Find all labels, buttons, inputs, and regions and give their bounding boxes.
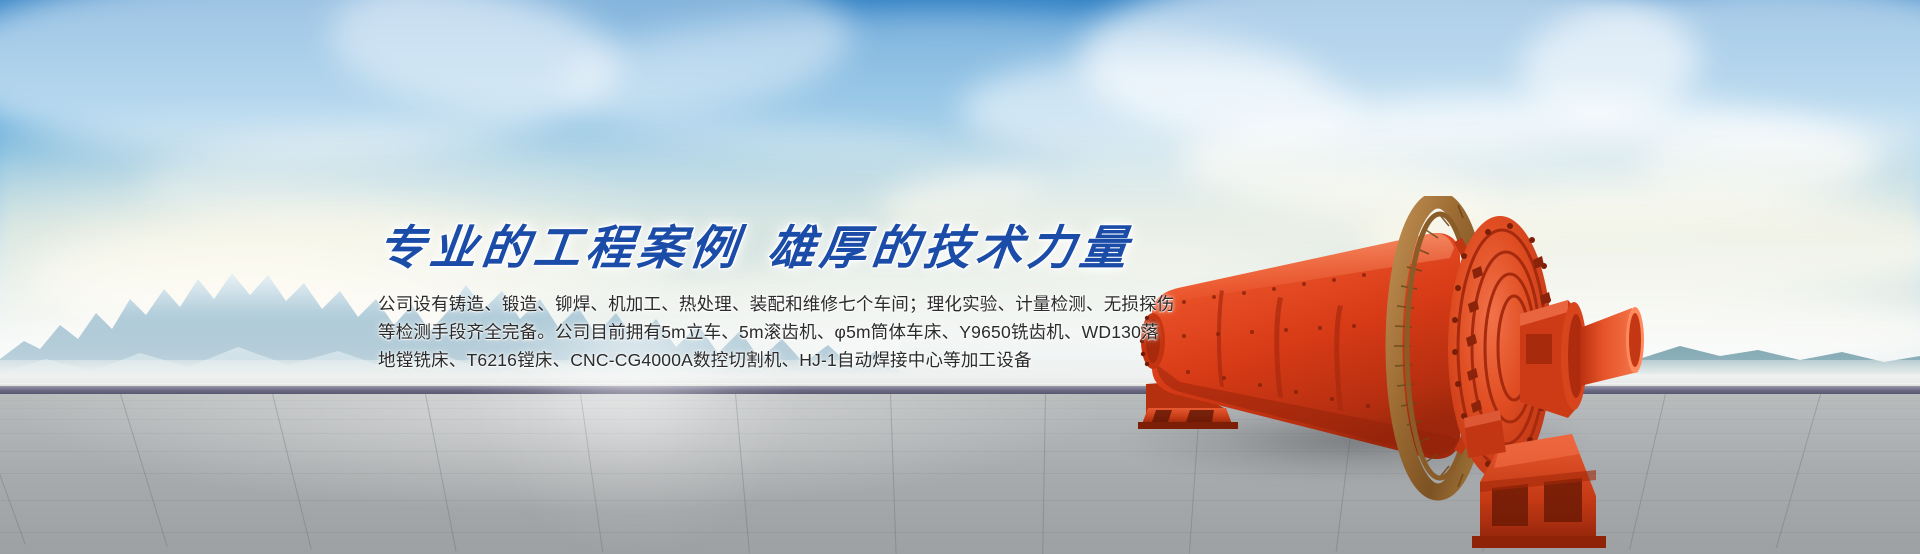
- banner-text-block: 专业的工程案例雄厚的技术力量 公司设有铸造、锻造、铆焊、机加工、热处理、装配和维…: [378, 225, 1168, 374]
- description-line: 地镗铣床、T6216镗床、CNC-CG4000A数控切割机、HJ-1自动焊接中心…: [378, 346, 1168, 374]
- page-title: 专业的工程案例雄厚的技术力量: [375, 225, 1171, 272]
- description-line: 等检测手段齐全完备。公司目前拥有5m立车、5m滚齿机、φ5m筒体车床、Y9650…: [378, 318, 1168, 346]
- headline-part-1: 专业的工程案例: [375, 221, 746, 276]
- banner-description: 公司设有铸造、锻造、铆焊、机加工、热处理、装配和维修七个车间；理化实验、计量检测…: [378, 290, 1168, 374]
- pinion-drive-housing: [1464, 410, 1506, 458]
- bearing-access-panel: [1526, 334, 1552, 364]
- promotional-banner: 专业的工程案例雄厚的技术力量 公司设有铸造、锻造、铆焊、机加工、热处理、装配和维…: [0, 0, 1920, 554]
- ball-mill-machine: [1128, 196, 1648, 554]
- discharge-chute: [1580, 307, 1644, 386]
- base-cutout: [1492, 484, 1528, 526]
- ball-mill-icon: [1128, 196, 1648, 554]
- trunnion-bearing: [1520, 300, 1587, 418]
- headline-part-2: 雄厚的技术力量: [765, 221, 1136, 276]
- description-line: 公司设有铸造、锻造、铆焊、机加工、热处理、装配和维修七个车间；理化实验、计量检测…: [378, 290, 1168, 318]
